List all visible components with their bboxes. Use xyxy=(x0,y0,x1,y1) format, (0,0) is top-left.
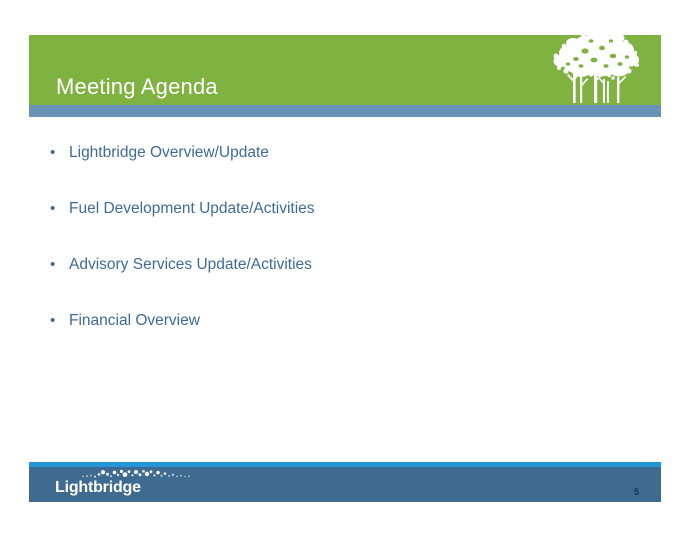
list-item-label: Advisory Services Update/Activities xyxy=(69,255,647,275)
list-item-label: Financial Overview xyxy=(69,311,647,331)
header-accent-rule xyxy=(29,105,661,117)
presentation-slide: Meeting Agenda xyxy=(0,0,690,533)
bullet-point-icon: • xyxy=(47,311,69,331)
list-item: • Financial Overview xyxy=(47,311,647,367)
slide-header-band: Meeting Agenda xyxy=(29,35,661,105)
list-item: • Fuel Development Update/Activities xyxy=(47,199,647,255)
bullet-point-icon: • xyxy=(47,255,69,275)
bullet-point-icon: • xyxy=(47,199,69,219)
list-item-label: Fuel Development Update/Activities xyxy=(69,199,647,219)
dot-arc-decoration xyxy=(81,467,191,479)
list-item: • Lightbridge Overview/Update xyxy=(47,143,647,199)
brand-logo-text: Lightbridge xyxy=(55,480,141,496)
bullet-point-icon: • xyxy=(47,143,69,163)
page-number: 5 xyxy=(634,488,639,497)
list-item-label: Lightbridge Overview/Update xyxy=(69,143,647,163)
slide-footer-band: Lightbridge 5 xyxy=(29,462,661,502)
tree-cluster-icon xyxy=(547,35,643,105)
page-title: Meeting Agenda xyxy=(56,76,218,98)
list-item: • Advisory Services Update/Activities xyxy=(47,255,647,311)
agenda-bullet-list: • Lightbridge Overview/Update • Fuel Dev… xyxy=(47,143,647,367)
